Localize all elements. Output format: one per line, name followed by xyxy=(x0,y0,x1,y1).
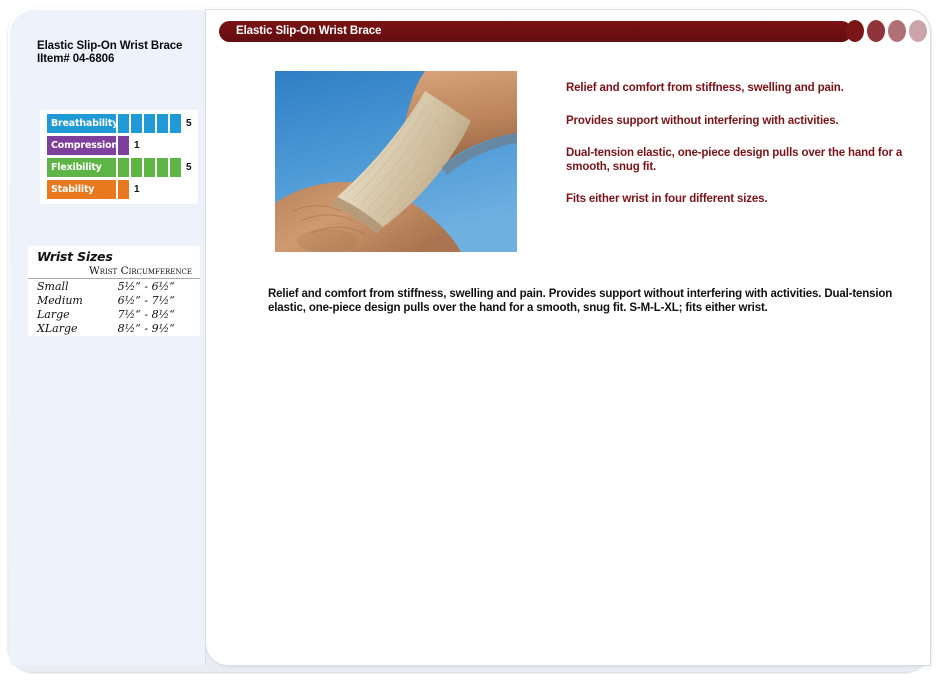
rating-value: 5 xyxy=(186,114,192,133)
size-name: Medium xyxy=(28,294,102,308)
product-description: Relief and comfort from stiffness, swell… xyxy=(268,288,893,315)
size-name: XLarge xyxy=(28,322,102,336)
size-name: Small xyxy=(28,280,102,294)
size-circumference: 8½“ - 9½“ xyxy=(102,322,200,336)
sidebar-item-number: IItem# 04-6806 xyxy=(37,53,205,66)
header-dot-icon xyxy=(846,20,864,42)
rating-row: Flexibility5 xyxy=(47,158,198,177)
wrist-sizes-card: Wrist Sizes Wrist Circumference Small5½“… xyxy=(28,246,200,336)
ratings-card: Breathability5Compression1Flexibility5St… xyxy=(40,110,198,204)
page-header-bar: Elastic Slip-On Wrist Brace xyxy=(219,21,852,42)
table-row: XLarge8½“ - 9½“ xyxy=(28,322,200,336)
rating-segment xyxy=(170,114,181,133)
feature-bullet: Dual-tension elastic, one-piece design p… xyxy=(566,147,916,174)
rating-segment xyxy=(131,158,142,177)
rating-segment xyxy=(144,158,155,177)
rating-value: 1 xyxy=(134,180,140,199)
size-circumference: 5½“ - 6½“ xyxy=(102,280,200,294)
rating-row: Breathability5 xyxy=(47,114,198,133)
sidebar-product-heading: Elastic Slip-On Wrist Brace IItem# 04-68… xyxy=(37,40,205,66)
feature-bullet: Fits either wrist in four different size… xyxy=(566,193,916,207)
rating-value: 1 xyxy=(134,136,140,155)
rating-value: 5 xyxy=(186,158,192,177)
feature-bullet: Relief and comfort from stiffness, swell… xyxy=(566,82,916,96)
rating-segments xyxy=(118,180,129,199)
size-circumference: 6½“ - 7½“ xyxy=(102,294,200,308)
header-dot-icon xyxy=(867,20,885,42)
rating-segment xyxy=(170,158,181,177)
header-dot-icon xyxy=(888,20,906,42)
wrist-circumference-header: Wrist Circumference xyxy=(28,265,200,279)
rating-segments xyxy=(118,136,129,155)
rating-label: Stability xyxy=(47,180,116,199)
header-decoration-dots xyxy=(846,20,927,42)
size-name: Large xyxy=(28,308,102,322)
header-dot-icon xyxy=(909,20,927,42)
rating-label: Flexibility xyxy=(47,158,116,177)
rating-segment xyxy=(157,114,168,133)
rating-segments xyxy=(118,114,181,133)
rating-row: Compression1 xyxy=(47,136,198,155)
sidebar-inner: Elastic Slip-On Wrist Brace IItem# 04-68… xyxy=(10,10,206,665)
main-content-panel: Elastic Slip-On Wrist Brace xyxy=(206,10,930,665)
table-row: Medium6½“ - 7½“ xyxy=(28,294,200,308)
feature-bullet: Provides support without interfering wit… xyxy=(566,115,916,129)
rating-segment xyxy=(131,114,142,133)
wrist-sizes-table: Small5½“ - 6½“Medium6½“ - 7½“Large7½“ - … xyxy=(28,280,200,336)
page-frame: Elastic Slip-On Wrist Brace IItem# 04-68… xyxy=(0,0,938,680)
rating-segment xyxy=(144,114,155,133)
sidebar-product-title: Elastic Slip-On Wrist Brace xyxy=(37,40,205,53)
rating-label: Breathability xyxy=(47,114,116,133)
rating-segments xyxy=(118,158,181,177)
rating-row: Stability1 xyxy=(47,180,198,199)
sidebar: Elastic Slip-On Wrist Brace IItem# 04-68… xyxy=(10,10,206,665)
rating-segment xyxy=(157,158,168,177)
wrist-sizes-title: Wrist Sizes xyxy=(28,246,200,264)
feature-bullet-list: Relief and comfort from stiffness, swell… xyxy=(566,82,916,207)
rating-segment xyxy=(118,114,129,133)
table-row: Small5½“ - 6½“ xyxy=(28,280,200,294)
size-circumference: 7½“ - 8½“ xyxy=(102,308,200,322)
rating-segment xyxy=(118,180,129,199)
page-title: Elastic Slip-On Wrist Brace xyxy=(236,21,381,42)
rating-segment xyxy=(118,158,129,177)
rating-label: Compression xyxy=(47,136,116,155)
rating-segment xyxy=(118,136,129,155)
table-row: Large7½“ - 8½“ xyxy=(28,308,200,322)
product-photo xyxy=(275,71,517,252)
